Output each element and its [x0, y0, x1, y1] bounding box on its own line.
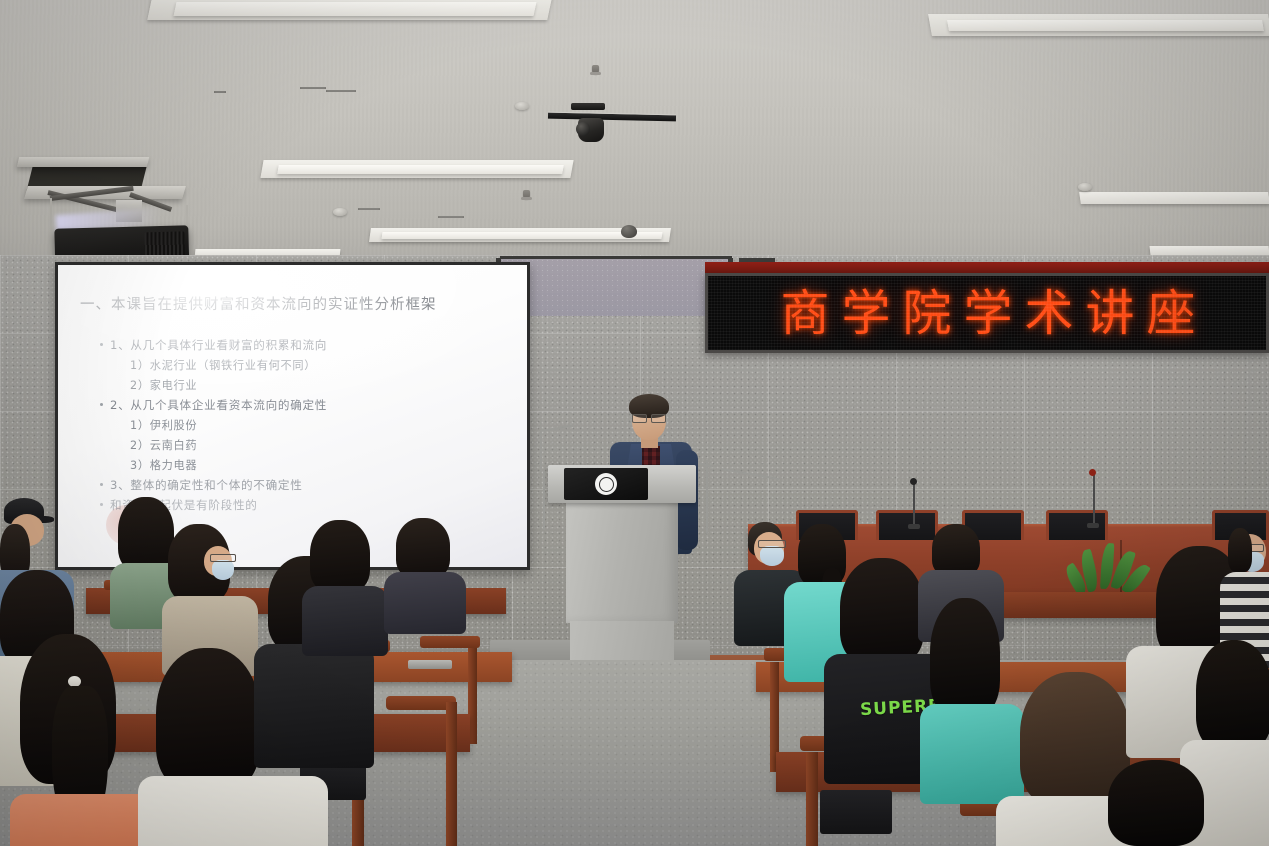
- torso: [302, 586, 388, 656]
- microphone-stand: [706, 460, 708, 534]
- torso: [384, 572, 466, 634]
- ceiling-light-panel: [174, 2, 537, 16]
- glasses-icon: [758, 540, 786, 548]
- wall-upper-band: [500, 258, 730, 316]
- microphone-stand: [540, 432, 542, 472]
- torso: [920, 704, 1024, 804]
- hair: [1228, 528, 1252, 572]
- smoke-detector-icon: [1078, 183, 1092, 191]
- hair: [932, 524, 980, 576]
- slide-bullet: 2、从几个具体企业看资本流向的确定性: [98, 397, 518, 413]
- microphone-base: [1087, 523, 1099, 528]
- presenter-glasses-icon: [632, 414, 666, 421]
- podium-front-panel: [564, 468, 648, 500]
- hair: [310, 520, 370, 592]
- hair: [118, 497, 174, 571]
- led-banner-surface: 商学院学术讲座: [708, 276, 1266, 350]
- ceiling: [0, 0, 1269, 290]
- lift-guide-pole: [50, 198, 52, 256]
- ceiling-seam: [438, 216, 464, 218]
- slide-bullet: 3）格力电器: [130, 457, 518, 473]
- podium-base: [570, 621, 674, 663]
- microphone-stand: [543, 470, 545, 530]
- smoke-detector-icon: [515, 102, 529, 110]
- ceiling-texture: [0, 0, 1269, 290]
- slide-bullet: 1、从几个具体行业看财富的积累和流向: [98, 337, 518, 353]
- ceiling-seam: [326, 90, 356, 92]
- potted-plant: [1062, 543, 1146, 595]
- microphone-base: [908, 524, 920, 529]
- stage-chair-back: [876, 510, 938, 540]
- microphone-head-icon: [910, 478, 917, 485]
- podium-top: [548, 465, 696, 503]
- ceiling-light-panel: [277, 165, 564, 174]
- camera-lens-icon: [576, 122, 590, 136]
- led-banner-text: 商学院学术讲座: [766, 289, 1207, 338]
- slide-body: 1、从几个具体行业看财富的积累和流向1）水泥行业（钢铁行业有何不同）2）家电行业…: [98, 337, 518, 517]
- slide-bullet: 2）云南白药: [130, 437, 518, 453]
- hair: [840, 558, 924, 664]
- gooseneck-microphone: [913, 483, 915, 527]
- podium-body: [566, 501, 678, 623]
- slide-bullet: 2）家电行业: [130, 377, 518, 393]
- face-mask: [212, 560, 234, 580]
- projector-lift-panel: [17, 157, 149, 167]
- lecture-hall-photo: 商学院学术讲座 一、本课旨在提供财富和资本流向的实证性分析框架 1、从几个具体行…: [0, 0, 1269, 846]
- ceiling-light-panel: [1150, 246, 1269, 255]
- wall-band-texture: [500, 258, 730, 316]
- microphone-head-icon: [1089, 469, 1096, 476]
- slide-bullet: 1）伊利股份: [130, 417, 518, 433]
- face-mask: [760, 546, 784, 566]
- hair: [156, 648, 260, 790]
- seat-support-post: [806, 752, 818, 846]
- hair: [1196, 640, 1269, 750]
- slide-bullet: 1）水泥行业（钢铁行业有何不同）: [130, 357, 518, 373]
- seat-cushion: [820, 790, 892, 834]
- dome-camera-icon: [621, 225, 637, 238]
- smoke-detector-icon: [333, 208, 347, 216]
- gooseneck-microphone: [1093, 474, 1095, 526]
- university-emblem-icon: [595, 473, 617, 495]
- glasses-icon: [210, 554, 236, 562]
- ceiling-seam: [358, 208, 380, 210]
- seat-support-post: [446, 702, 457, 846]
- torso: [254, 644, 374, 768]
- sprinkler-head-icon: [523, 190, 530, 199]
- hair: [1108, 760, 1204, 846]
- sprinkler-head-icon: [592, 65, 599, 74]
- hair: [930, 598, 1000, 716]
- ceiling-light-panel: [947, 20, 1264, 31]
- slide-title: 一、本课旨在提供财富和资本流向的实证性分析框架: [80, 293, 437, 314]
- led-banner: 商学院学术讲座: [705, 273, 1269, 353]
- seat-armrest: [420, 636, 480, 648]
- ceiling-camera-icon: [578, 118, 604, 142]
- hair: [396, 518, 450, 578]
- slide-bullet: 3、整体的确定性和个体的不确定性: [98, 477, 518, 493]
- writing-tray: [408, 660, 452, 669]
- wall-edge-shadow: [500, 256, 732, 259]
- ceiling-seam: [300, 87, 326, 89]
- podium: [566, 465, 678, 670]
- ceiling-light-panel: [1079, 192, 1269, 204]
- ceiling-seam: [214, 91, 226, 93]
- camera-mount-bracket: [571, 103, 605, 110]
- torso: [138, 776, 328, 846]
